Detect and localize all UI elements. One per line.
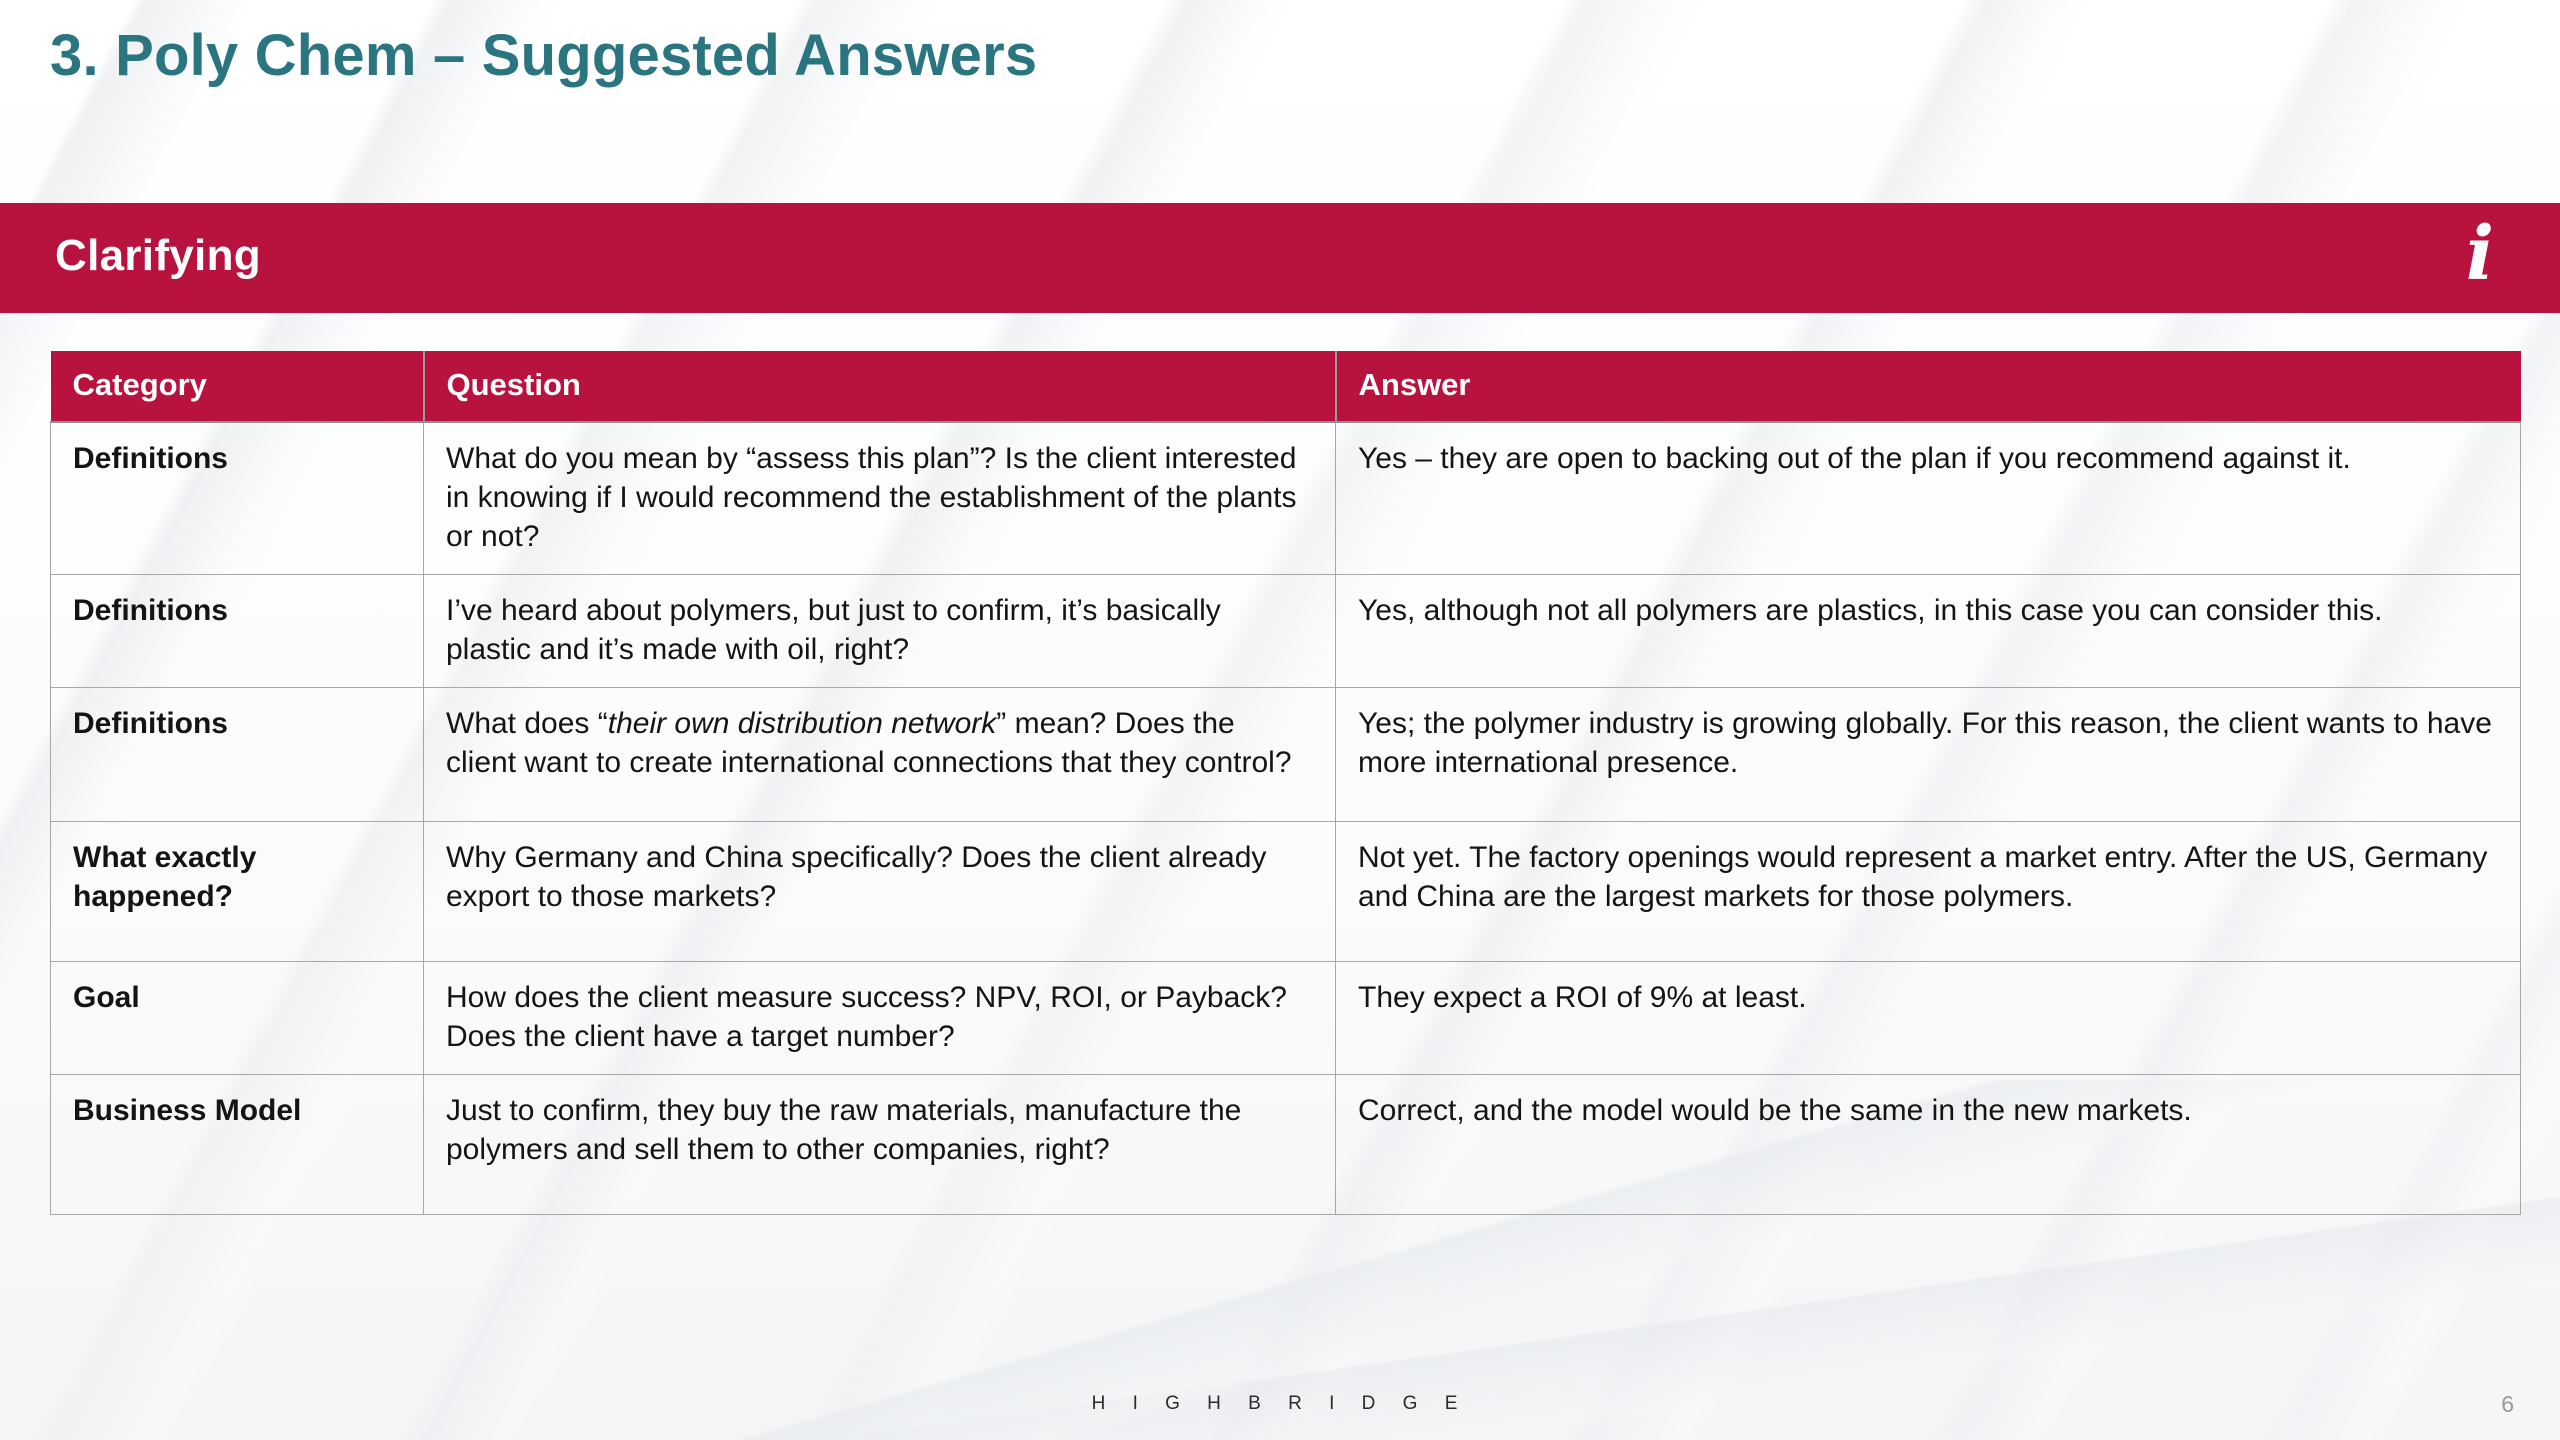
cell-category: Definitions	[51, 422, 424, 575]
cell-answer: Not yet. The factory openings would repr…	[1336, 822, 2521, 962]
question-text-pre: What do you mean by “assess this plan”? …	[446, 442, 1296, 553]
cell-answer: Yes; the polymer industry is growing glo…	[1336, 688, 2521, 822]
cell-question: Just to confirm, they buy the raw materi…	[424, 1075, 1336, 1215]
cell-category: Business Model	[51, 1075, 424, 1215]
cell-question: What do you mean by “assess this plan”? …	[424, 422, 1336, 575]
section-banner: Clarifying i	[0, 203, 2560, 313]
cell-question: Why Germany and China specifically? Does…	[424, 822, 1336, 962]
table-row: Definitions I’ve heard about polymers, b…	[51, 575, 2521, 688]
cell-answer: Correct, and the model would be the same…	[1336, 1075, 2521, 1215]
table-row: Definitions What do you mean by “assess …	[51, 422, 2521, 575]
section-banner-label: Clarifying	[55, 234, 261, 282]
question-text-emphasis: their own distribution network	[608, 707, 997, 740]
table-header-row: Category Question Answer	[51, 351, 2521, 422]
table-body: Definitions What do you mean by “assess …	[51, 422, 2521, 1215]
column-header-answer: Answer	[1336, 351, 2521, 422]
cell-question: I’ve heard about polymers, but just to c…	[424, 575, 1336, 688]
qa-table: Category Question Answer Definitions Wha…	[50, 351, 2521, 1215]
table-row: Business Model Just to confirm, they buy…	[51, 1075, 2521, 1215]
question-text-pre: Why Germany and China specifically? Does…	[446, 841, 1266, 913]
page-number: 6	[2501, 1391, 2514, 1418]
question-text-pre: I’ve heard about polymers, but just to c…	[446, 594, 1221, 666]
cell-category: Goal	[51, 962, 424, 1075]
cell-answer: Yes, although not all polymers are plast…	[1336, 575, 2521, 688]
table-header: Category Question Answer	[51, 351, 2521, 422]
question-text-pre: What does “	[446, 707, 608, 740]
table-row: Definitions What does “their own distrib…	[51, 688, 2521, 822]
cell-question: How does the client measure success? NPV…	[424, 962, 1336, 1075]
question-text-pre: Just to confirm, they buy the raw materi…	[446, 1094, 1241, 1166]
cell-question: What does “their own distribution networ…	[424, 688, 1336, 822]
column-header-category: Category	[51, 351, 424, 422]
question-text-pre: How does the client measure success? NPV…	[446, 981, 1287, 1053]
cell-category: Definitions	[51, 688, 424, 822]
table-row: What exactly happened? Why Germany and C…	[51, 822, 2521, 962]
footer-brand: H I G H B R I D G E	[0, 1393, 2560, 1415]
column-header-question: Question	[424, 351, 1336, 422]
table-row: Goal How does the client measure success…	[51, 962, 2521, 1075]
cell-answer: Yes – they are open to backing out of th…	[1336, 422, 2521, 575]
page-title: 3. Poly Chem – Suggested Answers	[50, 22, 1037, 89]
cell-category: Definitions	[51, 575, 424, 688]
cell-answer: They expect a ROI of 9% at least.	[1336, 962, 2521, 1075]
cell-category: What exactly happened?	[51, 822, 424, 962]
info-icon: i	[2466, 217, 2500, 299]
